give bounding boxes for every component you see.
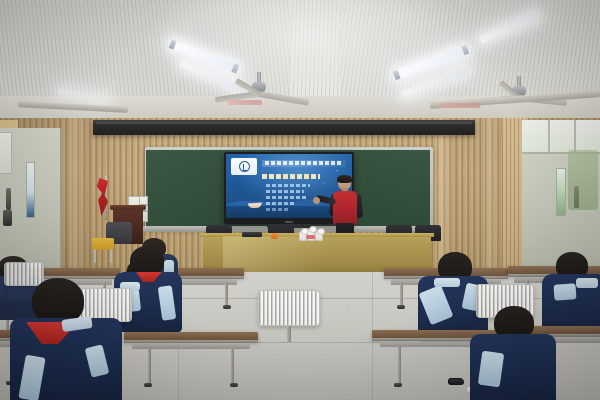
transom-window-right [522, 120, 600, 154]
slide-body-line-3 [266, 196, 308, 199]
display-power-button[interactable] [285, 221, 293, 223]
orange-object-on-table [271, 233, 278, 239]
student-sleeve-stripe [553, 283, 576, 300]
figurine-group-on-table [299, 226, 325, 241]
door-handle-left-icon[interactable] [6, 188, 11, 210]
blackboard-right-panel [352, 150, 430, 226]
banner-rail [93, 120, 475, 135]
slide-body-line-5 [266, 208, 290, 211]
slide-body-line-2 [266, 190, 304, 193]
laptop-on-table[interactable] [242, 232, 262, 237]
figurine-accent [306, 235, 315, 239]
presenter-hand [313, 197, 320, 204]
ceiling [0, 0, 600, 132]
rail-accent-right [440, 103, 480, 108]
slide-emblem-icon [231, 158, 257, 175]
student-sleeve-stripe [478, 351, 505, 388]
student-collar [434, 278, 460, 287]
presenter-hair [337, 175, 352, 183]
door-vision-panel-left [26, 162, 35, 218]
card-reader-icon[interactable] [3, 210, 12, 226]
slide-body-line-4 [266, 202, 296, 205]
slide-banner-title [262, 160, 346, 167]
student-front-left [6, 278, 126, 400]
rail-accent-left [228, 100, 262, 105]
chair-backrest [258, 290, 320, 326]
presenter-red-vest [333, 191, 357, 225]
student-front-right [470, 306, 556, 400]
slide-body-line-1 [266, 184, 310, 187]
classroom-photo [0, 0, 600, 400]
door-vision-panel-right [556, 168, 566, 216]
foliage-through-window [568, 150, 598, 210]
wall-frame-left [0, 132, 12, 174]
blackboard-left-panel [146, 150, 226, 226]
yellow-chair[interactable] [92, 238, 114, 250]
student-collar [576, 278, 598, 288]
chair-stem [287, 326, 291, 342]
chair-2[interactable] [258, 290, 320, 326]
desk-front-2 [124, 332, 258, 392]
slide-headline [262, 174, 320, 179]
